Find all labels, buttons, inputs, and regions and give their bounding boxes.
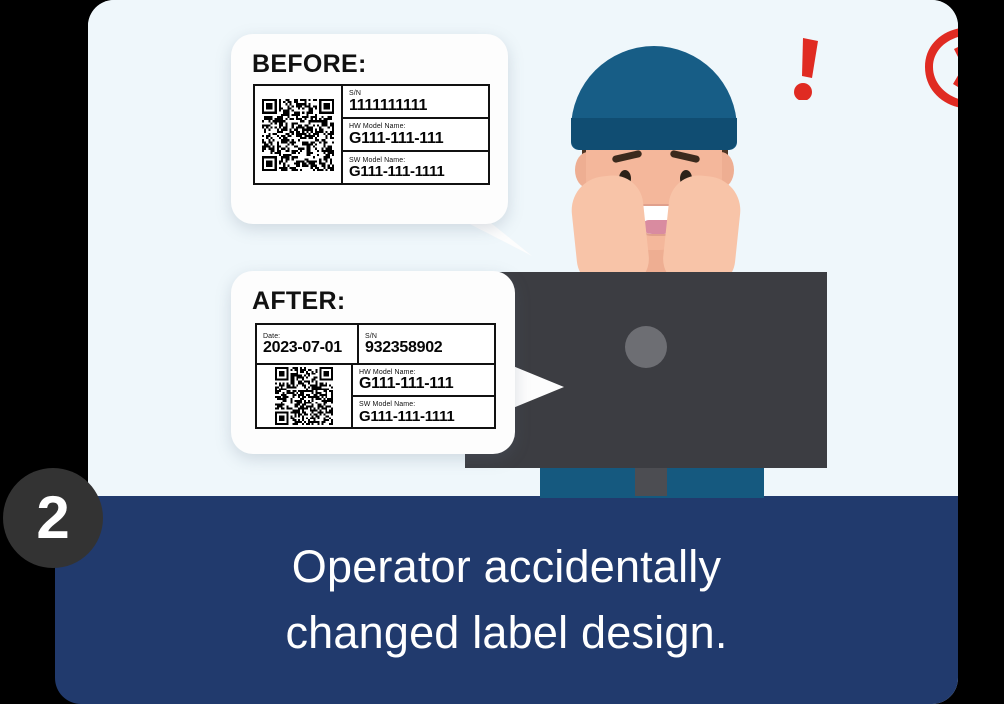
before-label-table: S/N 1111111111 HW Model Name: G111-111-1… [253,84,490,185]
after-label-rows: HW Model Name: G111-111-111 SW Model Nam… [353,365,494,427]
table-row: HW Model Name: G111-111-111 [343,119,488,152]
step-number-badge: 2 [3,468,103,568]
table-row: SW Model Name: G111-111-1111 [343,152,488,183]
table-row: HW Model Name: G111-111-111 [353,365,494,397]
before-qr-canvas [262,99,334,171]
table-row: SW Model Name: G111-111-1111 [353,397,494,427]
illustration-stage: BEFORE: S/N 1111111111 HW Model Name: G1… [0,0,1004,704]
row-value: 2023-07-01 [263,340,357,357]
caption-line-1: Operator accidentally [292,534,721,600]
row-value: 1111111111 [349,98,488,115]
row-value: G111-111-111 [359,376,494,393]
monitor-knob-icon [625,326,667,368]
after-date-cell: Date: 2023-07-01 [257,325,359,363]
red-circle-x-icon [920,22,958,114]
row-value: 932358902 [365,340,494,357]
before-speech-bubble: BEFORE: S/N 1111111111 HW Model Name: G1… [231,34,508,224]
caption-line-2: changed label design. [285,600,727,666]
table-row: S/N 1111111111 [343,86,488,119]
operator-cap-brim [571,118,737,150]
step-number: 2 [36,488,69,548]
before-title: BEFORE: [252,50,367,79]
after-qr-code [257,365,353,427]
row-value: G111-111-111 [349,131,488,148]
row-value: G111-111-1111 [359,409,494,425]
before-qr-code [255,86,343,183]
after-top-row: Date: 2023-07-01 S/N 932358902 [257,325,494,365]
exclamation-mark-icon [790,38,824,100]
caption-band: Operator accidentally changed label desi… [55,496,958,704]
row-value: G111-111-1111 [349,164,488,180]
before-label-rows: S/N 1111111111 HW Model Name: G111-111-1… [343,86,488,183]
after-label-table: Date: 2023-07-01 S/N 932358902 HW Model [255,323,496,429]
after-title: AFTER: [252,287,345,316]
after-qr-canvas [275,367,333,425]
after-speech-bubble: AFTER: Date: 2023-07-01 S/N 932358902 [231,271,515,454]
after-bottom-row: HW Model Name: G111-111-111 SW Model Nam… [257,365,494,427]
after-sn-cell: S/N 932358902 [359,325,494,363]
